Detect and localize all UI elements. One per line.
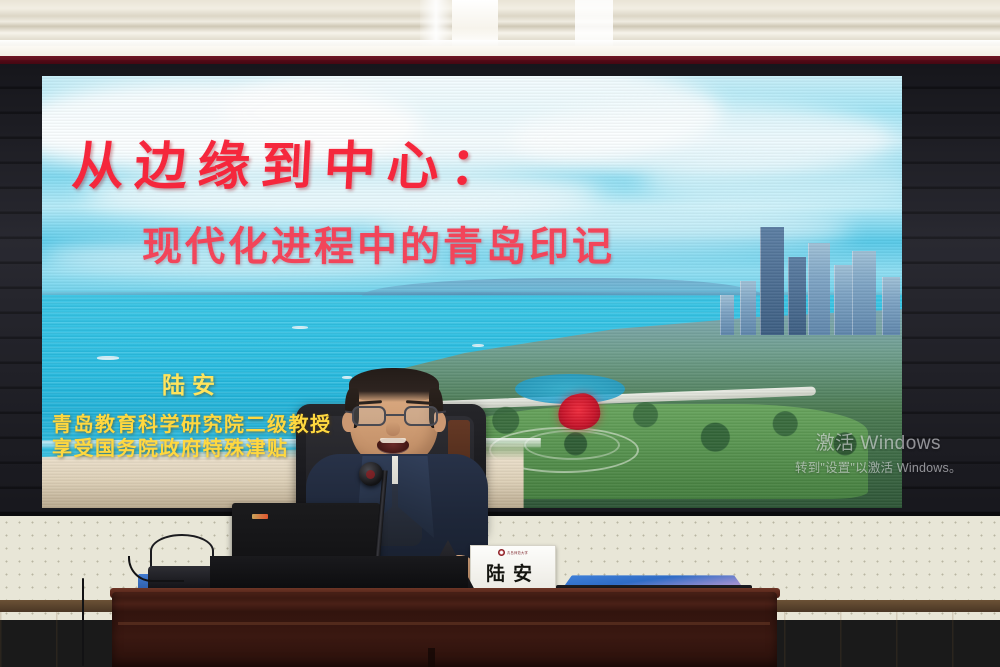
lecture-hall-scene: 从边缘到中心： 现代化进程中的青岛印记 陆安 青岛教育科学研究院二级教授 享受国… xyxy=(0,0,1000,667)
watermark-subtitle: 转到"设置"以激活 Windows。 xyxy=(795,457,962,476)
university-seal-icon xyxy=(498,549,505,556)
teeth xyxy=(380,438,406,443)
slide-presenter-name: 陆安 xyxy=(162,366,222,400)
glasses-bridge xyxy=(386,414,404,416)
slide-credentials: 青岛教育科学研究院二级教授 享受国务院政府特殊津贴 xyxy=(52,412,332,461)
building xyxy=(760,227,784,335)
podium-groove xyxy=(118,622,770,625)
watermark-title: 激活 Windows xyxy=(795,428,962,455)
building xyxy=(808,243,830,335)
podium xyxy=(112,592,777,667)
credential-line: 青岛教育科学研究院二级教授 xyxy=(52,412,332,436)
building xyxy=(720,295,734,335)
laptop-logo-icon xyxy=(252,514,268,519)
building xyxy=(852,251,876,335)
podium-center-joint xyxy=(428,648,435,667)
boat xyxy=(292,326,308,329)
nose xyxy=(386,422,400,436)
building xyxy=(788,257,806,335)
hair xyxy=(349,368,439,402)
nameplate-organization: 青岛师范大学 xyxy=(507,550,528,555)
credential-line: 享受国务院政府特殊津贴 xyxy=(52,436,332,460)
microphone-indicator-icon xyxy=(366,470,375,479)
desk-nameplate: 青岛师范大学 陆安 xyxy=(470,545,556,591)
ceiling xyxy=(0,0,1000,47)
nameplate-logo-row: 青岛师范大学 xyxy=(498,549,528,556)
lens xyxy=(352,406,386,426)
nameplate-name: 陆安 xyxy=(486,559,540,586)
slide-title-main: 从边缘到中心： xyxy=(70,124,515,199)
slide-title-sub: 现代化进程中的青岛印记 xyxy=(142,214,615,272)
building xyxy=(834,265,854,335)
building xyxy=(882,277,900,335)
windows-activation-watermark: 激活 Windows 转到"设置"以激活 Windows。 xyxy=(795,428,962,476)
lens xyxy=(404,406,438,426)
cable xyxy=(82,578,84,666)
boat xyxy=(97,356,119,360)
boat xyxy=(472,344,484,347)
building xyxy=(740,281,756,335)
cloud xyxy=(642,156,902,206)
